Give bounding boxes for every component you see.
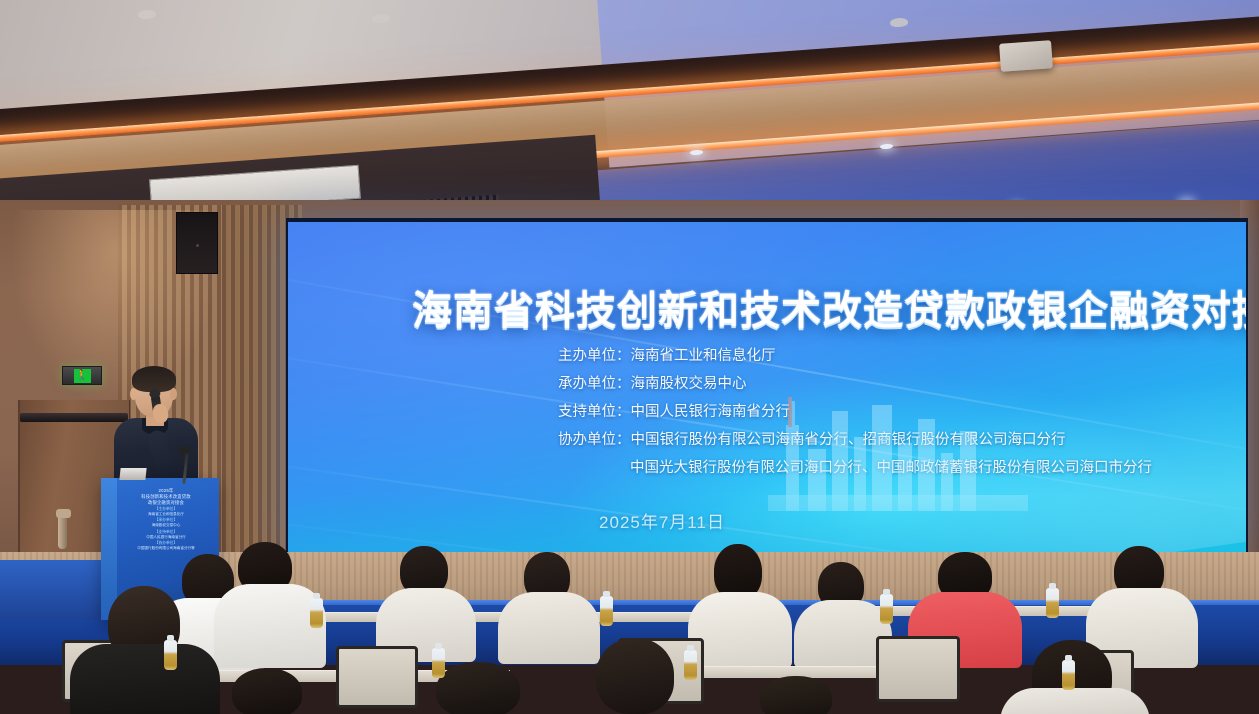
speaker-ear: [130, 388, 137, 400]
podium-title-line1: 科技创新和技术改造贷款: [118, 494, 214, 500]
conference-photo: 🚶 海南省科技创新和技术改造贷款政银企融资对接会 主办单位：海南省工业和信息化厅…: [0, 0, 1259, 714]
screen-title: 海南省科技创新和技术改造贷款政银企融资对接会: [384, 278, 1246, 336]
organizer-label: 协办单位：: [558, 432, 631, 448]
person-body: [214, 584, 326, 668]
podium-title-line2: 政银企融资对接会: [118, 500, 214, 506]
water-bottle: [880, 594, 893, 624]
audience-chair[interactable]: [876, 636, 960, 702]
organizer-value: 中国人民银行海南省分行: [631, 404, 791, 420]
wall-speaker-icon: [176, 212, 218, 274]
podium-year: 2025年: [118, 488, 214, 494]
city-skyline-graphic: [768, 391, 1028, 511]
person-body: [1000, 688, 1150, 714]
water-bottle: [310, 598, 323, 628]
person-body: [70, 644, 220, 714]
water-bottle: [432, 648, 445, 678]
water-bottle: [1046, 588, 1059, 618]
person-head: [436, 662, 520, 714]
audience-chair[interactable]: [336, 646, 418, 708]
water-bottle: [684, 650, 697, 680]
door-rail: [20, 413, 128, 422]
ceiling-projector-box: [999, 40, 1053, 72]
person-head: [760, 676, 832, 714]
water-bottle: [600, 596, 613, 626]
ceiling: [0, 0, 1259, 232]
speaker-ear: [170, 388, 177, 400]
led-screen: 海南省科技创新和技术改造贷款政银企融资对接会 主办单位：海南省工业和信息化厅 承…: [288, 222, 1246, 555]
organizer-line: 承办单位：海南股权交易中心: [558, 372, 747, 393]
organizer-label: 主办单位：: [558, 348, 631, 364]
organizer-line: 主办单位：海南省工业和信息化厅: [558, 344, 776, 365]
audience-area: [0, 540, 1259, 714]
organizer-label: 支持单位：: [558, 404, 631, 420]
screen-organizer-list: 主办单位：海南省工业和信息化厅 承办单位：海南股权交易中心 支持单位：中国人民银…: [288, 344, 1246, 477]
water-bottle: [164, 640, 177, 670]
organizer-label: 承办单位：: [558, 376, 631, 392]
person-head: [232, 668, 302, 714]
organizer-value: 海南省工业和信息化厅: [631, 348, 776, 364]
water-bottle: [1062, 660, 1075, 690]
person-head: [596, 638, 674, 714]
organizer-line: 支持单位：中国人民银行海南省分行: [558, 400, 790, 421]
podium-laptop: [119, 468, 146, 480]
exit-sign: 🚶: [62, 366, 102, 385]
person-body: [498, 592, 600, 664]
running-man-icon: 🚶: [74, 369, 91, 383]
organizer-value: 海南股权交易中心: [631, 376, 747, 392]
